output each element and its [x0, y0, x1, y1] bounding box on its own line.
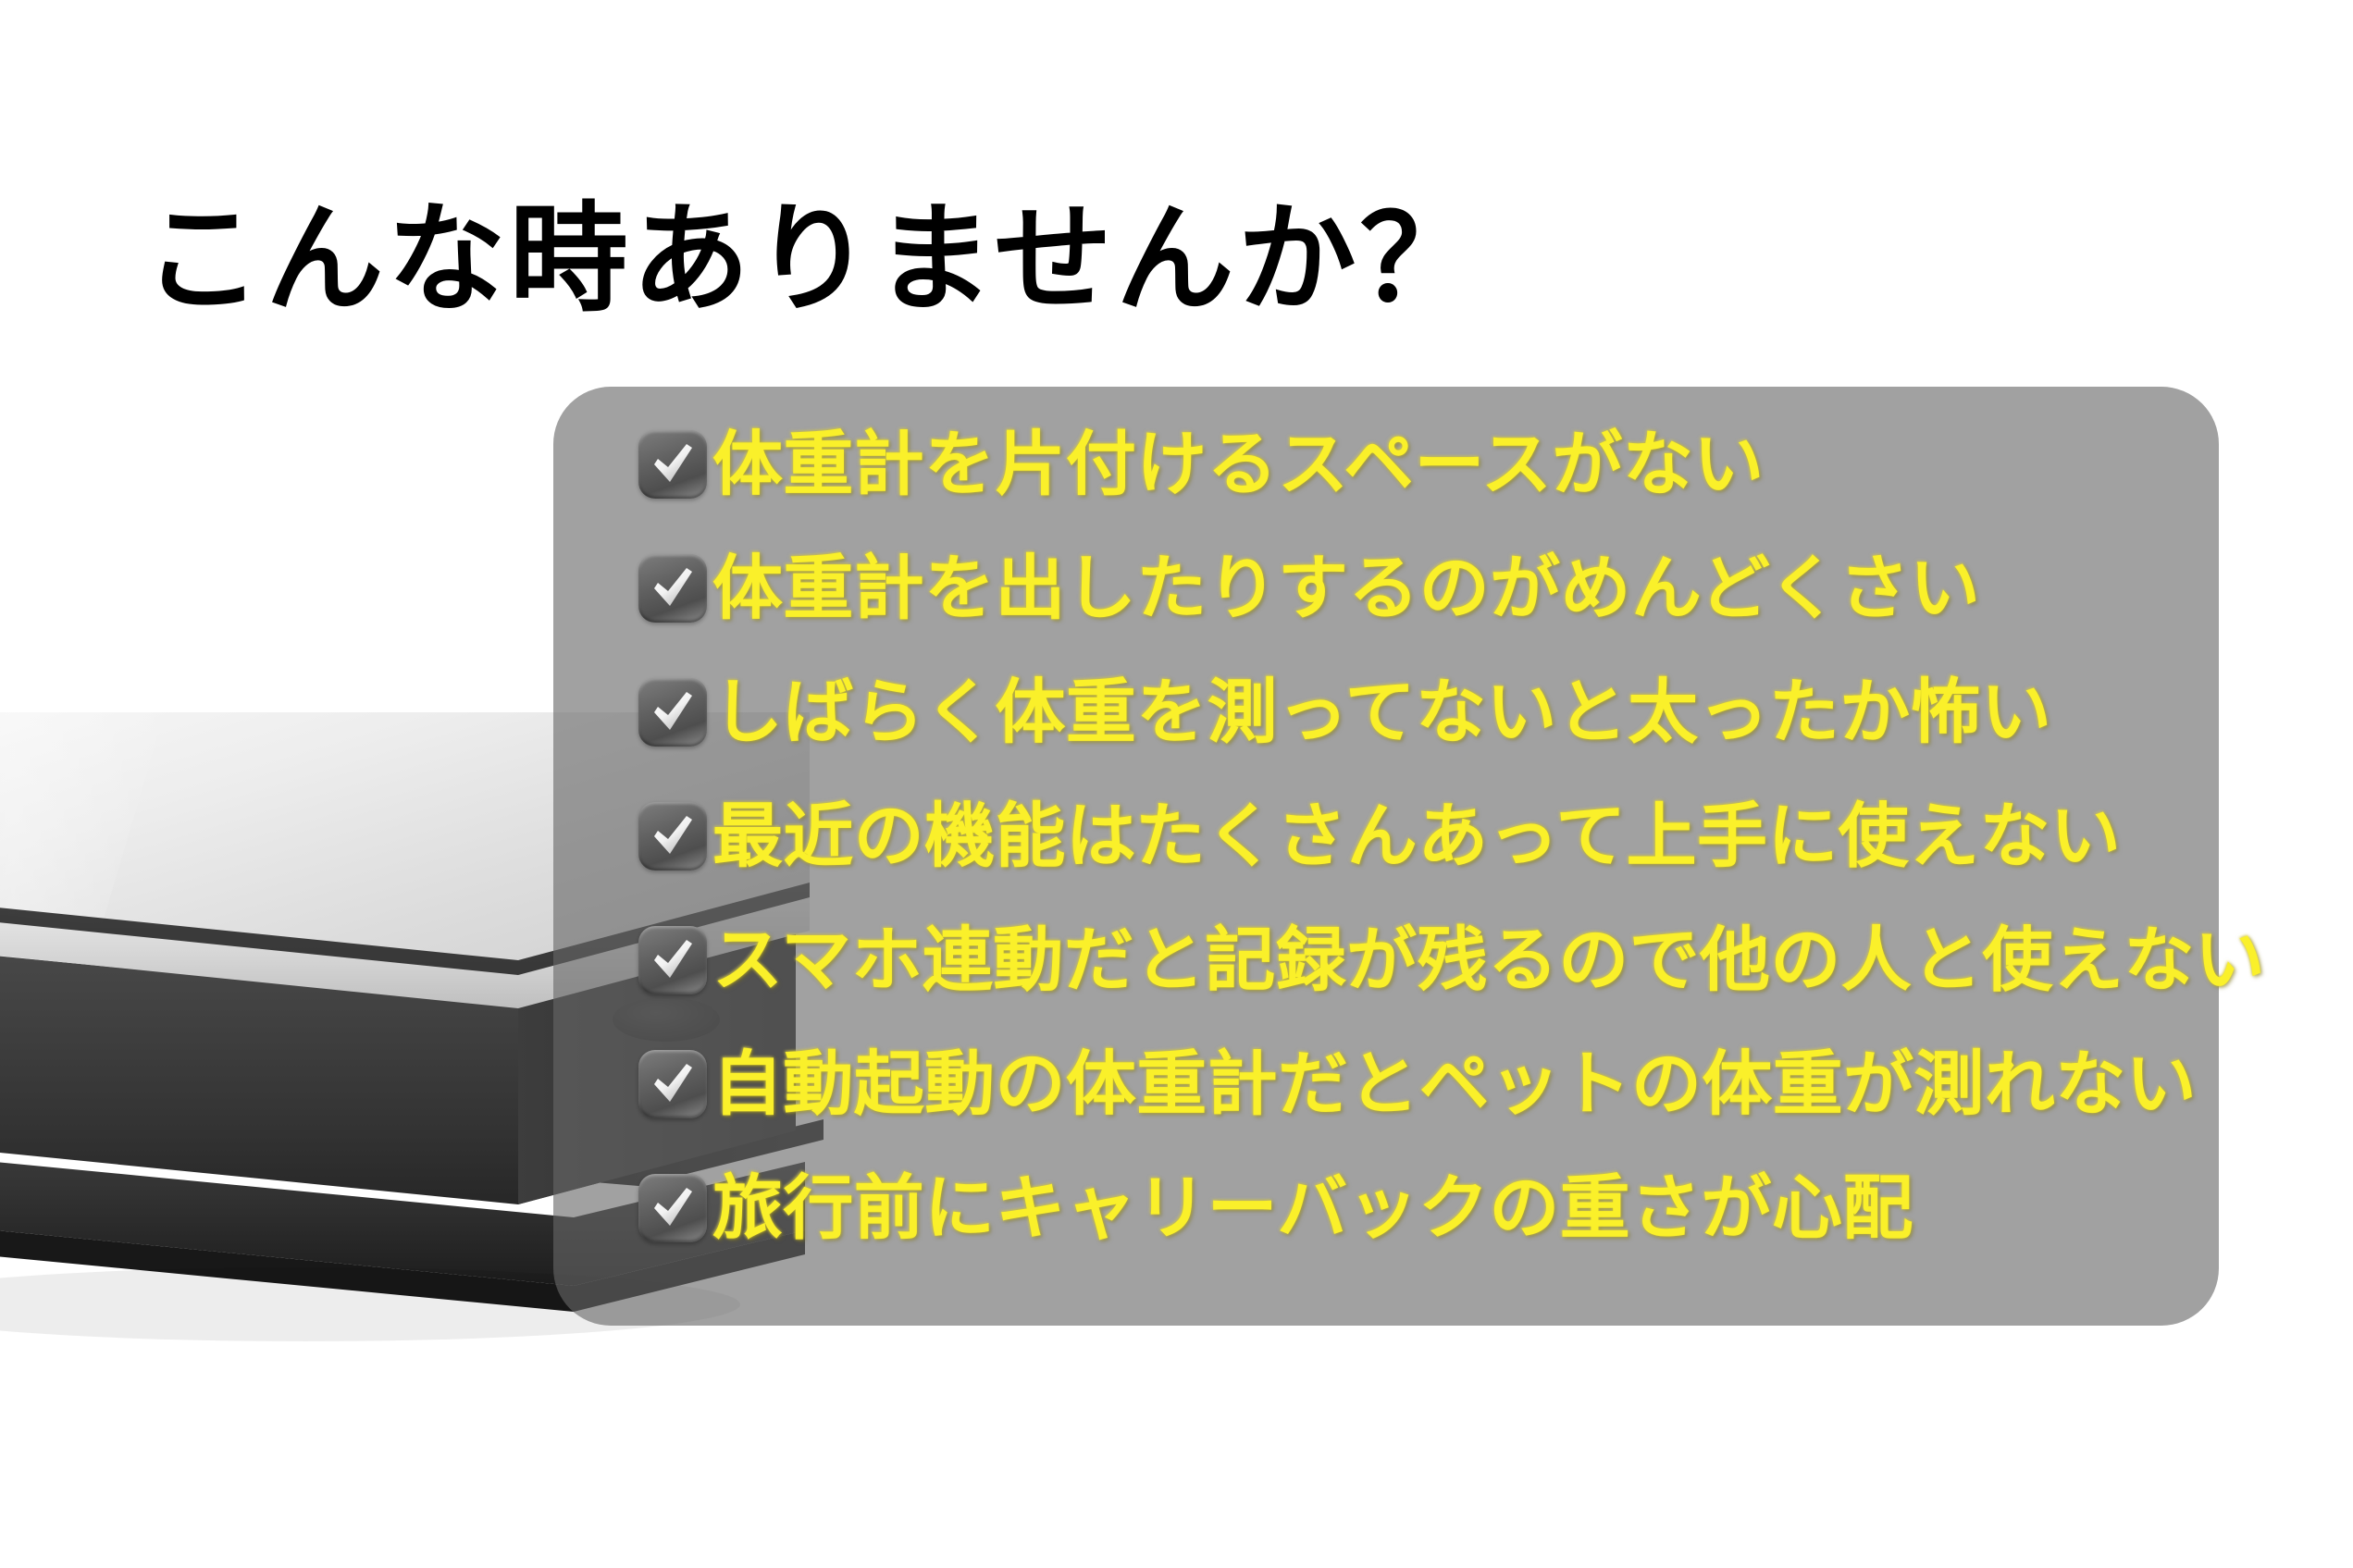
list-item[interactable]: 体重計を出したりするのがめんどくさい [638, 542, 2211, 635]
check-mark-icon [645, 684, 700, 739]
list-item-label: しばらく体重を測ってないと太ったか怖い [712, 677, 2051, 747]
check-mark-icon [645, 932, 700, 987]
list-item-label: 体重計を出したりするのがめんどくさい [712, 553, 1980, 623]
list-item[interactable]: 最近の機能はたくさんあって上手に使えない [638, 790, 2211, 883]
list-item[interactable]: しばらく体重を測ってないと太ったか怖い [638, 666, 2211, 759]
scale-plate-gloss [0, 712, 176, 925]
check-mark-icon [645, 436, 700, 491]
checked-checkbox-icon[interactable] [638, 430, 707, 499]
checklist: 体重計を片付けるスペースがない 体重計を出したりするのがめんどくさい しばらく体… [638, 418, 2211, 1254]
checked-checkbox-icon[interactable] [638, 802, 707, 870]
checked-checkbox-icon[interactable] [638, 926, 707, 994]
checked-checkbox-icon[interactable] [638, 1174, 707, 1242]
check-mark-icon [645, 1056, 700, 1111]
check-mark-icon [645, 808, 700, 863]
list-item-label: スマホ連動だと記録が残るので他の人と使えない [712, 925, 2265, 995]
checked-checkbox-icon[interactable] [638, 554, 707, 623]
list-item-label: 自動起動の体重計だとペットの体重が測れない [712, 1049, 2197, 1119]
checked-checkbox-icon[interactable] [638, 1050, 707, 1118]
list-item-label: 体重計を片付けるスペースがない [712, 429, 1765, 500]
page-title: こんな時ありませんか？ [143, 190, 1481, 329]
list-item[interactable]: 体重計を片付けるスペースがない [638, 418, 2211, 511]
list-item[interactable]: スマホ連動だと記録が残るので他の人と使えない [638, 914, 2211, 1006]
list-item[interactable]: 旅行前にキャリーバックの重さが心配 [638, 1162, 2211, 1254]
promo-banner: こんな時ありませんか？ 体重計を片付けるスペースがない [0, 0, 2353, 1568]
list-item-label: 最近の機能はたくさんあって上手に使えない [712, 801, 2121, 871]
check-mark-icon [645, 1179, 700, 1235]
checked-checkbox-icon[interactable] [638, 678, 707, 747]
list-item-label: 旅行前にキャリーバックの重さが心配 [712, 1173, 1913, 1243]
check-mark-icon [645, 560, 700, 615]
list-item[interactable]: 自動起動の体重計だとペットの体重が測れない [638, 1038, 2211, 1130]
